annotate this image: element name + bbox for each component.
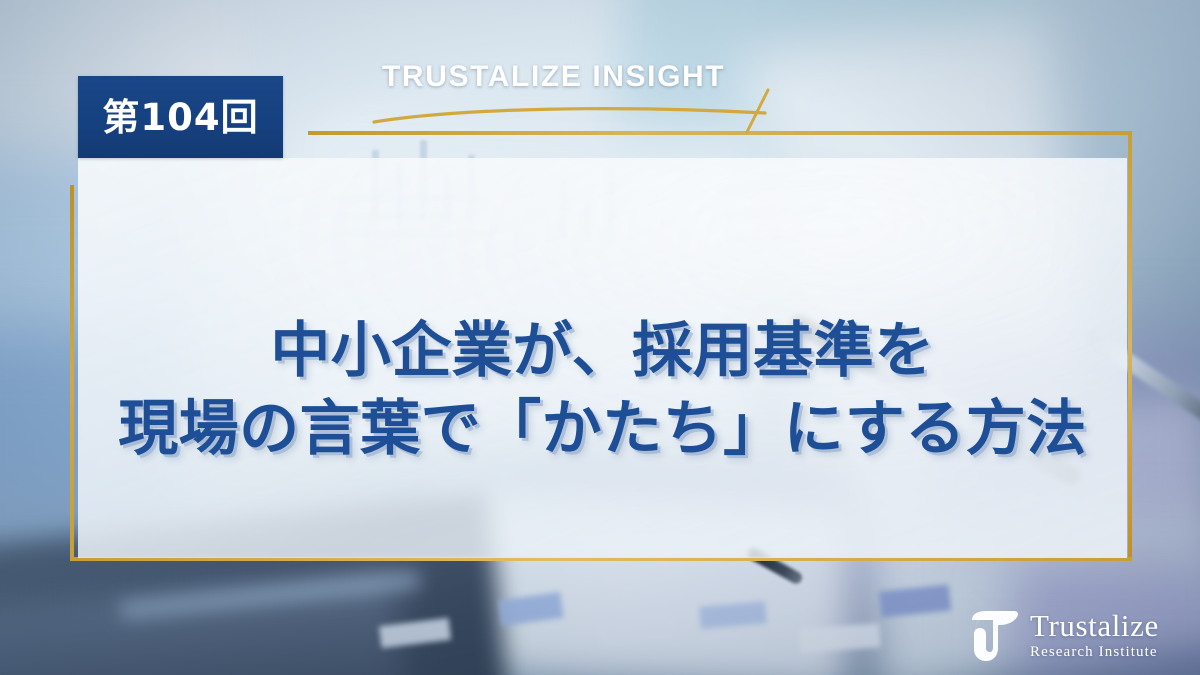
brand-logo-text: Trustalize Research Institute — [1030, 610, 1159, 660]
series-eyebrow-label: TRUSTALIZE INSIGHT — [382, 60, 802, 104]
page-title: 中小企業が、採用基準を 現場の言葉で「かたち」にする方法 — [78, 312, 1127, 468]
frame-border-right — [1128, 131, 1132, 561]
frame-border-left — [70, 185, 74, 561]
page-title-line-2: 現場の言葉で「かたち」にする方法 — [78, 390, 1127, 468]
frame-border-top — [308, 131, 1132, 135]
episode-number-badge: 第104回 — [78, 76, 283, 158]
episode-number-label: 第104回 — [102, 99, 258, 136]
thumbnail-canvas: 第104回 TRUSTALIZE INSIGHT 中小企業が、採用基準を 現場の… — [0, 0, 1200, 675]
brand-logo: Trustalize Research Institute — [962, 600, 1194, 670]
brand-name: Trustalize — [1030, 610, 1159, 641]
page-title-line-1: 中小企業が、採用基準を — [78, 312, 1127, 390]
brand-subtitle: Research Institute — [1030, 645, 1159, 660]
trustalize-t-mark-icon — [962, 604, 1024, 666]
